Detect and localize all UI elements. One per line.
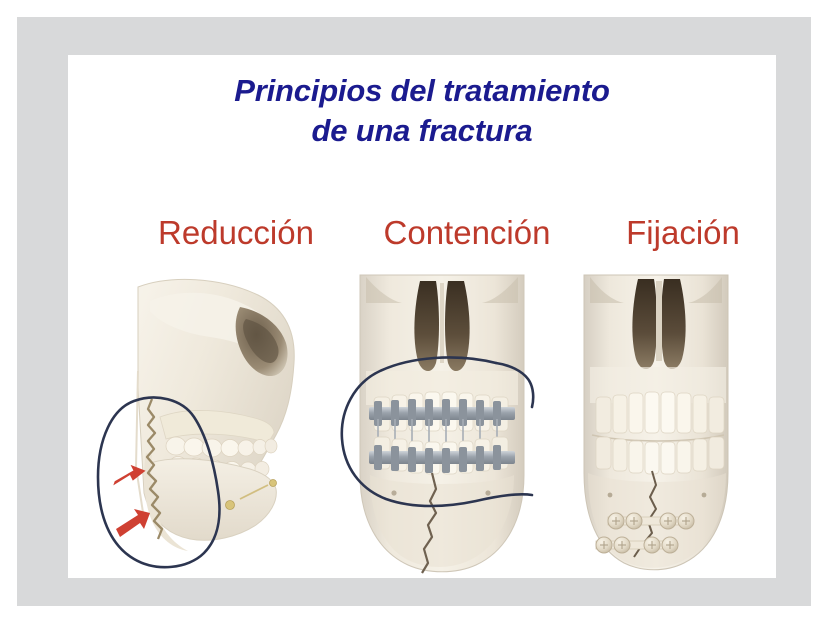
figures-row: [68, 267, 776, 578]
reduction-arrow-lower: [116, 509, 150, 537]
bone-screw-dot-1: [226, 501, 235, 510]
figure-skull-lateral-fracture: [90, 267, 330, 578]
figure-skull-frontal-plates: [568, 267, 748, 578]
mental-foramen-right: [485, 490, 490, 495]
mental-foramen-left: [391, 490, 396, 495]
nasal-aperture-left: [632, 279, 657, 369]
nasal-septum: [656, 281, 662, 361]
nasal-septum: [440, 283, 444, 363]
skull-frontal-icon: [568, 267, 748, 578]
figure-skull-frontal-arch-bars: [336, 267, 548, 578]
step-label-fijacion: Fijación: [598, 213, 768, 253]
treatment-steps-row: Reducción Contención Fijación: [68, 213, 776, 257]
reduction-arrow-upper: [111, 463, 147, 486]
title-line-2: de una fractura: [68, 111, 776, 151]
nasal-aperture-right: [661, 279, 686, 369]
step-label-contencion: Contención: [352, 213, 582, 253]
mental-foramen-left: [608, 493, 613, 498]
slide-frame: Principios del tratamiento de una fractu…: [17, 17, 811, 606]
step-label-reduccion: Reducción: [126, 213, 346, 253]
slide-canvas: Principios del tratamiento de una fractu…: [68, 55, 776, 578]
skull-frontal-icon: [336, 267, 548, 578]
title-line-1: Principios del tratamiento: [68, 71, 776, 111]
bone-screw-dot-2: [270, 480, 277, 487]
skull-lateral-oblique-icon: [90, 267, 330, 578]
mental-foramen-right: [702, 493, 707, 498]
page-title: Principios del tratamiento de una fractu…: [68, 71, 776, 151]
